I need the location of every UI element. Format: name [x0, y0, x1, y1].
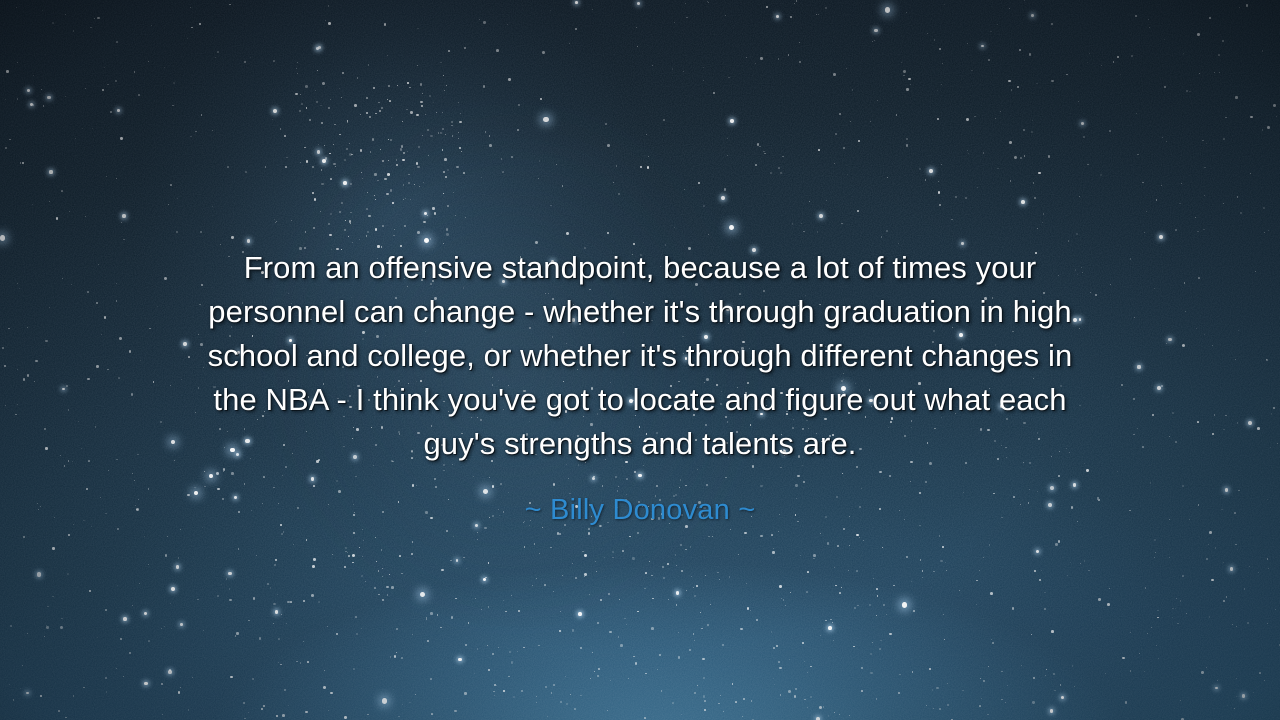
quote-text: From an offensive standpoint, because a … — [120, 246, 1160, 466]
quote-line-1: From an offensive standpoint, because a … — [244, 250, 1037, 285]
quote-attribution: ~ Billy Donovan ~ — [120, 492, 1160, 528]
quote-wallpaper: From an offensive standpoint, because a … — [0, 0, 1280, 720]
quote-block: From an offensive standpoint, because a … — [120, 246, 1160, 528]
quote-line-2: personnel can change - whether it's thro… — [208, 294, 1071, 329]
quote-line-4: the NBA - I think you've got to locate a… — [213, 382, 1066, 417]
quote-line-3: school and college, or whether it's thro… — [208, 338, 1073, 373]
quote-line-5: guy's strengths and talents are. — [423, 426, 856, 461]
